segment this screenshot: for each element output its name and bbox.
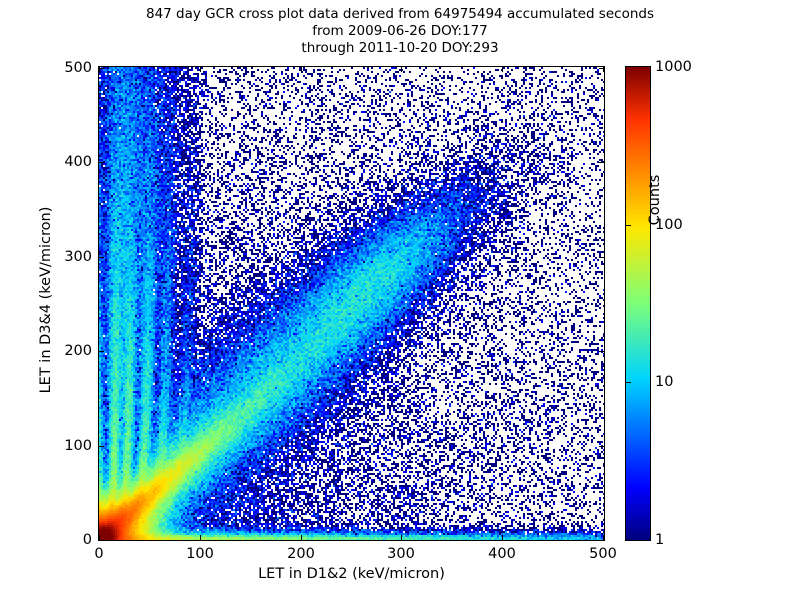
y-tick-mark-right — [599, 540, 604, 541]
x-tick-label: 200 — [287, 546, 315, 562]
x-tick-mark-top — [301, 67, 302, 72]
x-tick-label: 300 — [387, 546, 415, 562]
y-tick-label: 0 — [36, 532, 92, 548]
colorbar-tick-label: 1000 — [655, 59, 692, 75]
title-line-1: 847 day GCR cross plot data derived from… — [0, 6, 800, 23]
colorbar-tick-mark — [626, 225, 631, 226]
x-tick-mark-top — [401, 67, 402, 72]
colorbar-tick-label: 10 — [655, 374, 673, 390]
x-tick-mark — [200, 535, 201, 540]
y-tick-mark-right — [599, 351, 604, 352]
colorbar-tick-label: 1 — [655, 532, 664, 548]
x-tick-label: 400 — [488, 546, 516, 562]
x-tick-mark — [401, 535, 402, 540]
y-tick-mark — [99, 446, 104, 447]
plot-title: 847 day GCR cross plot data derived from… — [0, 6, 800, 57]
x-tick-label: 0 — [94, 546, 103, 562]
x-tick-mark-top — [200, 67, 201, 72]
x-tick-label: 100 — [186, 546, 214, 562]
density-heatmap — [99, 67, 604, 540]
plot-axes[interactable] — [98, 66, 605, 541]
colorbar-tick-mark — [626, 382, 631, 383]
y-tick-label: 100 — [36, 438, 92, 454]
y-tick-mark — [99, 257, 104, 258]
y-tick-mark — [99, 540, 104, 541]
y-tick-mark-right — [599, 68, 604, 69]
y-tick-mark — [99, 162, 104, 163]
title-line-2: from 2009-06-26 DOY:177 — [0, 23, 800, 40]
y-tick-mark — [99, 351, 104, 352]
title-line-3: through 2011-10-20 DOY:293 — [0, 40, 800, 57]
y-axis-label: LET in D3&4 (keV/micron) — [38, 190, 54, 410]
figure-canvas: 847 day GCR cross plot data derived from… — [0, 0, 800, 600]
x-tick-label: 500 — [589, 546, 617, 562]
x-tick-mark-top — [502, 67, 503, 72]
y-tick-mark-right — [599, 446, 604, 447]
y-tick-mark-right — [599, 162, 604, 163]
x-tick-mark — [301, 535, 302, 540]
y-tick-mark-right — [599, 257, 604, 258]
y-tick-label: 500 — [36, 60, 92, 76]
y-tick-label: 400 — [36, 154, 92, 170]
x-tick-mark — [502, 535, 503, 540]
colorbar-label: Counts — [647, 100, 663, 300]
y-tick-mark — [99, 68, 104, 69]
x-axis-label: LET in D1&2 (keV/micron) — [98, 566, 605, 582]
